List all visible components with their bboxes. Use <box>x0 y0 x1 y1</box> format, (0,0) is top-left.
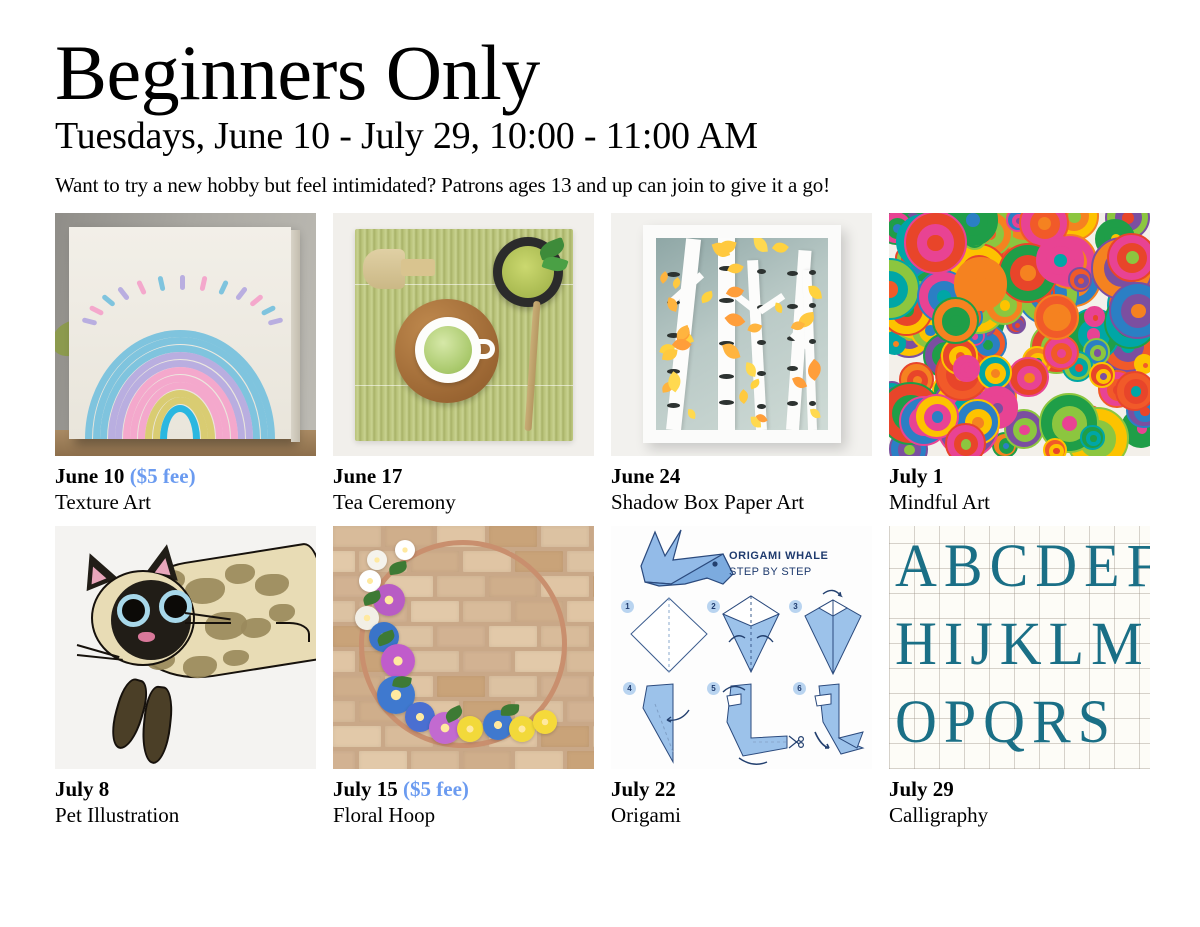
concentric-circle-pattern <box>889 213 1150 456</box>
concentric-circle-inner <box>1051 343 1072 364</box>
birch-bark-mark <box>809 401 816 406</box>
concentric-circle-inner <box>924 404 951 431</box>
session-image-calligraphy: ABCDEF HIJKLM OPQRS <box>889 526 1150 769</box>
concentric-circle-core <box>961 439 972 450</box>
texture-dash <box>180 275 185 290</box>
session-caption: June 10 ($5 fee) Texture Art <box>55 456 316 516</box>
autumn-leaf <box>774 303 784 314</box>
concentric-circle-core <box>1100 373 1107 380</box>
concentric-circle-inner <box>985 363 1006 384</box>
concentric-circle-core <box>1068 213 1081 223</box>
autumn-leaf <box>754 238 768 253</box>
date-text: June 17 <box>333 464 402 488</box>
concentric-circle-inner <box>1030 213 1060 239</box>
birch-bark-mark <box>757 371 766 376</box>
session-card[interactable]: ABCDEF HIJKLM OPQRS July 29 Calligraphy <box>889 526 1150 829</box>
cat-fur-spot <box>241 618 271 638</box>
page-description: Want to try a new hobby but feel intimid… <box>55 173 1145 198</box>
concentric-circle <box>953 355 979 381</box>
session-date: July 15 ($5 fee) <box>333 777 594 802</box>
session-title: Shadow Box Paper Art <box>611 490 872 515</box>
origami-title: ORIGAMI WHALE <box>729 550 828 562</box>
autumn-leaf <box>736 389 751 404</box>
concentric-circle-inner <box>889 337 903 351</box>
concentric-circle <box>1043 335 1079 371</box>
concentric-circle-core <box>1075 364 1083 372</box>
concentric-circle-inner <box>1117 243 1147 273</box>
cat-fur-spot <box>183 656 217 678</box>
date-text: June 10 <box>55 464 124 488</box>
fee-badge: ($5 fee) <box>403 777 469 801</box>
session-card[interactable]: June 24 Shadow Box Paper Art <box>611 213 872 516</box>
date-text: July 15 <box>333 777 398 801</box>
session-date: June 17 <box>333 464 594 489</box>
session-caption: July 15 ($5 fee) Floral Hoop <box>333 769 594 829</box>
date-text: July 8 <box>55 777 109 801</box>
session-caption: July 8 Pet Illustration <box>55 769 316 829</box>
session-date: June 10 ($5 fee) <box>55 464 316 489</box>
concentric-circle-inner <box>960 362 976 378</box>
tea-cup <box>415 317 481 383</box>
session-title: Texture Art <box>55 490 316 515</box>
session-caption: June 24 Shadow Box Paper Art <box>611 456 872 516</box>
concentric-circle-core <box>1093 315 1098 320</box>
birch-bark-mark <box>757 340 766 345</box>
concentric-circle-inner <box>889 271 908 308</box>
concentric-circle-core <box>966 213 979 226</box>
origami-whale-diagram <box>611 526 872 769</box>
flower <box>395 540 415 560</box>
origami-step-number: 6 <box>793 682 806 695</box>
session-card[interactable]: July 1 Mindful Art <box>889 213 1150 516</box>
concentric-circle-core <box>893 341 899 347</box>
session-title: Calligraphy <box>889 803 1150 828</box>
texture-dash <box>157 275 165 291</box>
session-card[interactable]: July 15 ($5 fee) Floral Hoop <box>333 526 594 829</box>
session-title: Floral Hoop <box>333 803 594 828</box>
flyer-header: Beginners Only Tuesdays, June 10 - July … <box>55 0 1145 199</box>
concentric-circle-core <box>1053 448 1059 454</box>
concentric-circle-core <box>1057 349 1066 358</box>
birch-bark-mark <box>667 403 680 408</box>
session-image-tea-ceremony <box>333 213 594 456</box>
concentric-circle-core <box>932 411 944 423</box>
session-caption: June 17 Tea Ceremony <box>333 456 594 516</box>
autumn-leaf <box>772 240 789 256</box>
concentric-circle-core <box>904 445 914 455</box>
concentric-circle-core <box>889 281 898 297</box>
flower <box>367 550 387 570</box>
texture-dash <box>136 279 147 295</box>
concentric-circle-core <box>991 369 1000 378</box>
session-date: June 24 <box>611 464 872 489</box>
concentric-circle <box>1080 425 1104 449</box>
session-caption: July 29 Calligraphy <box>889 769 1150 829</box>
date-text: June 24 <box>611 464 680 488</box>
session-date: July 1 <box>889 464 1150 489</box>
cat-fur-spot <box>223 650 249 666</box>
autumn-leaf <box>700 290 714 303</box>
session-image-texture-art <box>55 213 316 456</box>
autumn-leaf <box>687 409 696 419</box>
shadow-box-scene <box>656 238 828 430</box>
concentric-circle-core <box>1019 425 1029 435</box>
session-card[interactable]: June 10 ($5 fee) Texture Art <box>55 213 316 516</box>
concentric-circle-inner <box>1140 359 1150 371</box>
green-foliage <box>501 703 519 716</box>
concentric-circle-core <box>974 277 988 291</box>
session-title: Mindful Art <box>889 490 1150 515</box>
origami-step-number: 3 <box>789 600 802 613</box>
concentric-circle-core <box>1090 435 1096 441</box>
birch-bark-mark <box>757 269 766 274</box>
concentric-circle <box>1008 357 1049 398</box>
concentric-circle <box>945 423 986 455</box>
session-image-pet-illustration <box>55 526 316 769</box>
flower <box>533 710 557 734</box>
birch-bark-mark <box>719 400 734 405</box>
calligraphy-row: ABCDEF <box>895 530 1150 600</box>
page-title: Beginners Only <box>55 36 1145 111</box>
concentric-circle-core <box>1003 443 1010 450</box>
session-card[interactable]: July 8 Pet Illustration <box>55 526 316 829</box>
concentric-circle-inner <box>1089 312 1101 324</box>
concentric-circle-inner <box>1043 304 1070 331</box>
concentric-circle-core <box>1131 386 1142 397</box>
date-text: July 22 <box>611 777 676 801</box>
concentric-circle-inner <box>942 307 970 335</box>
session-date: July 22 <box>611 777 872 802</box>
concentric-circle-inner <box>954 432 978 456</box>
concentric-circle-inner <box>1090 345 1106 361</box>
concentric-circle-core <box>927 235 943 251</box>
concentric-circle-inner <box>1049 444 1064 456</box>
session-image-floral-hoop <box>333 526 594 769</box>
concentric-circle-core <box>1015 323 1020 328</box>
concentric-circle-core <box>1078 278 1084 284</box>
cat-fur-spot <box>225 564 255 584</box>
rainbow-arcs <box>85 299 275 439</box>
cat-whisker <box>185 622 231 624</box>
page-subtitle: Tuesdays, June 10 - July 29, 10:00 - 11:… <box>55 115 1145 158</box>
flower-cluster <box>333 526 594 769</box>
concentric-circle-inner <box>1121 294 1150 328</box>
cat-fur-spot <box>269 604 295 622</box>
wooden-coaster <box>395 299 499 403</box>
concentric-circle-inner <box>965 268 997 300</box>
session-date: July 8 <box>55 777 316 802</box>
concentric-circle-core <box>1024 373 1035 384</box>
origami-step-number: 4 <box>623 682 636 695</box>
concentric-circle-inner <box>1096 369 1112 385</box>
calligraphy-row: HIJKLM <box>895 608 1150 678</box>
session-title: Origami <box>611 803 872 828</box>
concentric-circle-core <box>964 366 971 373</box>
concentric-circle <box>977 355 1013 391</box>
session-card[interactable]: ORIGAMI WHALE STEP BY STEP 1 2 3 4 5 6 J… <box>611 526 872 829</box>
birch-bark-mark <box>719 298 734 303</box>
concentric-circle <box>904 213 967 275</box>
concentric-circle-core <box>950 315 962 327</box>
whisk-handle <box>401 259 435 276</box>
origami-subtitle: STEP BY STEP <box>729 566 812 578</box>
concentric-circle-inner <box>1017 366 1041 390</box>
cat-ear-inner-right <box>155 556 174 575</box>
concentric-circle-core <box>1094 349 1101 356</box>
birch-bark-mark <box>787 271 798 276</box>
concentric-circle <box>1084 306 1105 327</box>
birch-bark-mark <box>667 272 680 277</box>
flower <box>509 716 535 742</box>
cup-handle <box>473 339 495 359</box>
origami-step-number: 5 <box>707 682 720 695</box>
cat-eye-left <box>117 594 150 627</box>
concentric-circle <box>1115 371 1150 412</box>
cat-eye-right <box>159 590 192 623</box>
session-card[interactable]: June 17 Tea Ceremony <box>333 213 594 516</box>
date-text: July 1 <box>889 464 943 488</box>
concentric-circle-core <box>1062 416 1078 432</box>
concentric-circle-inner <box>1013 418 1037 442</box>
concentric-circle-core <box>1054 254 1066 266</box>
session-caption: July 1 Mindful Art <box>889 456 1150 516</box>
canvas-board <box>69 227 291 439</box>
date-text: July 29 <box>889 777 954 801</box>
birch-bark-mark <box>809 270 816 275</box>
session-title: Pet Illustration <box>55 803 316 828</box>
flower <box>381 644 415 678</box>
concentric-circle-core <box>1020 265 1036 281</box>
concentric-circle-inner <box>917 224 955 262</box>
concentric-circle-inner <box>1086 431 1101 446</box>
fee-badge: ($5 fee) <box>130 464 196 488</box>
session-caption: July 22 Origami <box>611 769 872 829</box>
concentric-circle-core <box>1000 300 1011 311</box>
cat-fur-spot <box>255 574 289 596</box>
flower <box>457 716 483 742</box>
session-image-origami: ORIGAMI WHALE STEP BY STEP 1 2 3 4 5 6 <box>611 526 872 769</box>
texture-dash <box>199 275 207 291</box>
calligraphy-row: OPQRS <box>895 686 1150 756</box>
concentric-circle <box>1034 294 1079 339</box>
matcha-whisk <box>363 249 405 289</box>
concentric-circle-core <box>1131 304 1146 319</box>
session-image-mindful-art <box>889 213 1150 456</box>
white-picture-frame <box>643 225 841 443</box>
concentric-circle-inner <box>1124 379 1148 403</box>
session-date: July 29 <box>889 777 1150 802</box>
session-grid: June 10 ($5 fee) Texture Art <box>55 213 1145 829</box>
cat-nose <box>138 632 155 642</box>
texture-dash <box>218 279 229 295</box>
concentric-circle-core <box>1038 217 1051 230</box>
session-title: Tea Ceremony <box>333 490 594 515</box>
concentric-circle-core <box>1126 251 1139 264</box>
birch-bark-mark <box>787 366 798 371</box>
concentric-circle-inner <box>1074 274 1089 289</box>
origami-step-number: 2 <box>707 600 720 613</box>
flyer-page: Beginners Only Tuesdays, June 10 - July … <box>0 0 1200 927</box>
green-foliage <box>388 560 408 575</box>
concentric-circle-core <box>1143 363 1148 368</box>
session-image-shadow-box <box>611 213 872 456</box>
concentric-circle-core <box>1051 312 1063 324</box>
birch-bark-mark <box>809 303 816 308</box>
origami-step-number: 1 <box>621 600 634 613</box>
birch-bark-mark <box>787 304 798 309</box>
concentric-circle <box>1068 267 1092 291</box>
